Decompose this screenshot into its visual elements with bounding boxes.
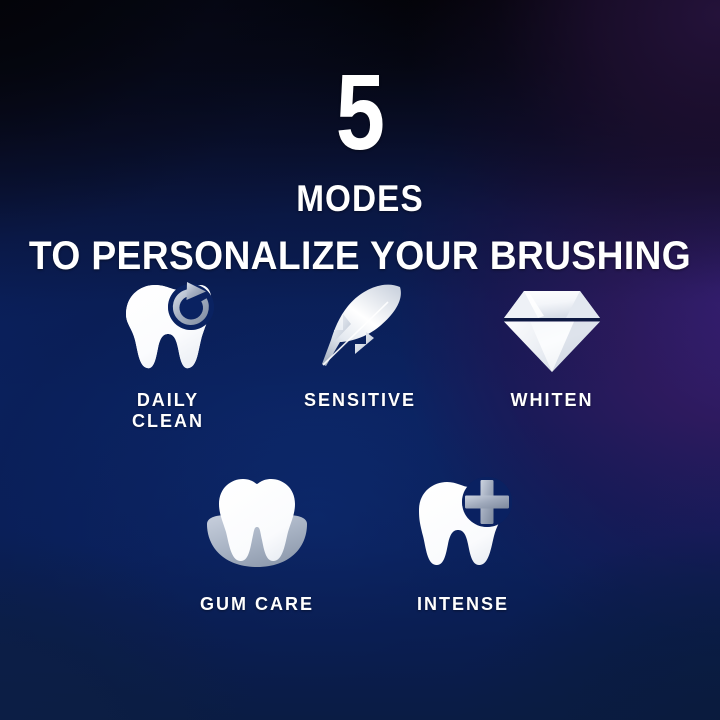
mode-row-bottom: GUM CARE	[0, 472, 720, 615]
tooth-refresh-icon	[118, 280, 218, 376]
mode-item-whiten[interactable]: WHITEN	[477, 280, 627, 432]
mode-label-daily-clean: DAILY CLEAN	[132, 390, 204, 432]
mode-label-intense: INTENSE	[417, 594, 509, 615]
modes-word: MODES	[36, 180, 684, 217]
mode-row-top: DAILY CLEAN	[0, 280, 720, 432]
mode-item-daily-clean[interactable]: DAILY CLEAN	[93, 280, 243, 432]
tooth-plus-icon	[407, 472, 519, 582]
page-title: TO PERSONALIZE YOUR BRUSHING	[25, 236, 695, 276]
headline-block: 5 MODES TO PERSONALIZE YOUR BRUSHING	[0, 0, 720, 276]
mode-item-gum-care[interactable]: GUM CARE	[182, 472, 332, 615]
mode-item-sensitive[interactable]: SENSITIVE	[285, 280, 435, 432]
mode-label-gum-care: GUM CARE	[200, 594, 314, 615]
mode-count-number: 5	[65, 58, 655, 166]
promo-graphic: 5 MODES TO PERSONALIZE YOUR BRUSHING	[0, 0, 720, 720]
mode-label-sensitive: SENSITIVE	[304, 390, 416, 411]
feather-icon	[310, 280, 410, 376]
mode-item-intense[interactable]: INTENSE	[388, 472, 538, 615]
mode-label-whiten: WHITEN	[511, 390, 594, 411]
diamond-icon	[500, 280, 604, 376]
tooth-gum-icon	[201, 472, 313, 582]
